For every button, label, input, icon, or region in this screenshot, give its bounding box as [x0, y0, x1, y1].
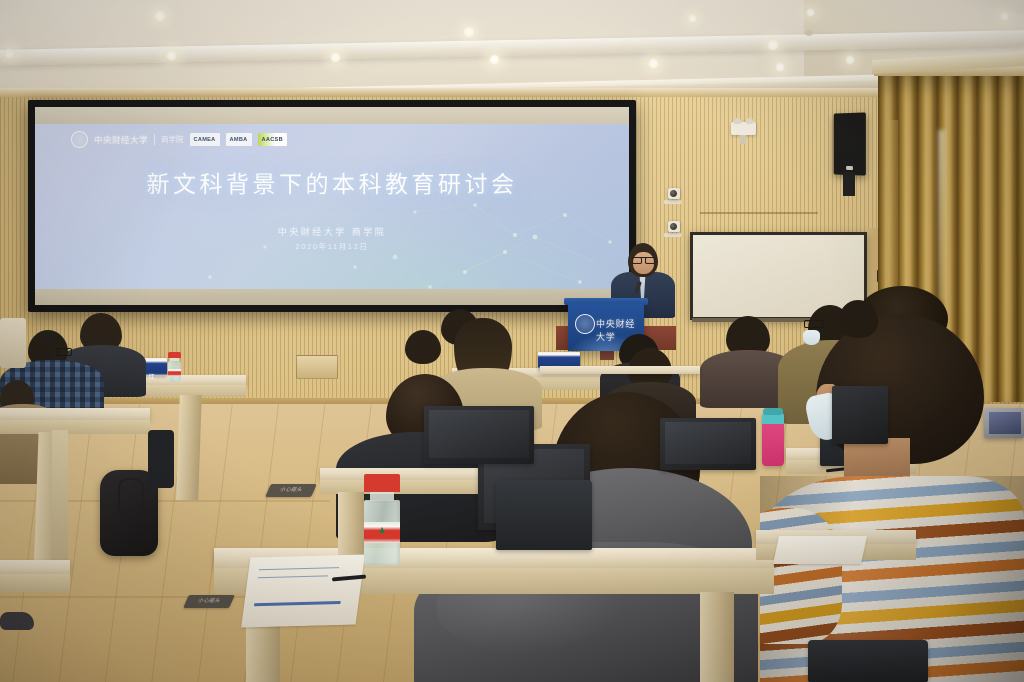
- slide-subtitle-org: 中央财经大学 商学院: [35, 225, 629, 238]
- slide-title: 新文科背景下的本科教育研讨会: [35, 165, 629, 199]
- slide-subtitle-date: 2020年11月12日: [35, 241, 629, 252]
- downlight: [688, 14, 697, 23]
- slide-logo-row: 中央财经大学 商学院 CAMEA AMBA AACSB: [71, 131, 287, 148]
- camera-lens-icon: [670, 190, 677, 197]
- emergency-light-stem: [740, 135, 746, 144]
- striped-sweater-woman: [760, 286, 1024, 682]
- logo-divider: [154, 134, 155, 145]
- slide-logo-amba: AMBA: [226, 133, 252, 146]
- wall-top-trim: [0, 88, 1024, 97]
- wall-speaker: [834, 112, 866, 175]
- bottle-label: [168, 369, 181, 376]
- desk-front: [0, 574, 70, 592]
- slide-surface: 中央财经大学 商学院 CAMEA AMBA AACSB 新文科背景下的本科教育研…: [35, 107, 629, 305]
- bottle-label: [364, 522, 400, 543]
- university-seal-icon: [71, 131, 88, 148]
- camera-lens-icon: [670, 223, 677, 230]
- downlight: [845, 55, 855, 65]
- handout-papers: [241, 555, 365, 628]
- slide-logo-camea: CAMEA: [190, 133, 220, 146]
- camera-bracket: [664, 200, 681, 204]
- paper-line: [254, 601, 341, 606]
- floor-plate-mid: 小心碰头: [265, 484, 317, 497]
- audience-head: [838, 300, 878, 338]
- desk-leg: [700, 592, 734, 682]
- floor-plate-label: 小心碰头: [183, 595, 235, 608]
- downlight: [154, 10, 166, 22]
- podium-university-seal-icon: [575, 314, 595, 334]
- speaker-mount: [843, 172, 855, 196]
- wall-vent: [296, 355, 338, 379]
- downlight: [463, 26, 475, 38]
- laptop-screen: [989, 412, 1021, 434]
- laptop-screen: [429, 410, 529, 458]
- bottle-cap: [364, 474, 400, 492]
- slide-logo-aacsb: AACSB: [258, 133, 287, 146]
- chair-back: [496, 480, 592, 550]
- desk-top: [540, 366, 700, 374]
- desk-top: [0, 408, 150, 420]
- water-bottle-foreground: [364, 474, 400, 566]
- slide-logo-university: 中央财经大学: [94, 134, 148, 146]
- projection-screen: 中央财经大学 商学院 CAMEA AMBA AACSB 新文科背景下的本科教育研…: [28, 100, 636, 312]
- desk-front: [0, 420, 150, 434]
- bottle-body: [364, 500, 400, 565]
- downlight: [767, 39, 779, 51]
- chair-back: [808, 640, 928, 682]
- downlight: [489, 54, 500, 65]
- downlight: [330, 52, 341, 63]
- downlight: [1000, 12, 1009, 21]
- glasses-icon: [56, 348, 72, 356]
- glasses-icon: [632, 257, 655, 263]
- camera-bracket: [664, 233, 681, 237]
- paper-line: [259, 567, 339, 570]
- chair-back: [0, 318, 26, 368]
- audience-head: [405, 330, 441, 364]
- downlight: [166, 50, 177, 61]
- camera-icon: [668, 188, 680, 199]
- handout-papers: [773, 536, 867, 564]
- lecture-hall-photo: 中央财经大学 商学院 CAMEA AMBA AACSB 新文科背景下的本科教育研…: [0, 0, 1024, 682]
- desk-leg: [176, 395, 202, 500]
- speaker-led-icon: [846, 166, 853, 170]
- shoe: [0, 612, 34, 630]
- wall-trim-line: [700, 212, 818, 214]
- floor-plate-label: 小心碰头: [265, 484, 317, 497]
- emergency-lamp-right-icon: [746, 118, 753, 124]
- downlight: [775, 62, 785, 72]
- desk-leg: [338, 492, 364, 558]
- camera-icon: [668, 221, 680, 232]
- curtain-light-gap: [938, 130, 945, 300]
- downlight: [806, 8, 815, 17]
- water-bottle: [168, 352, 181, 382]
- desk-top: [0, 560, 70, 574]
- downlight: [648, 58, 659, 69]
- bottle-logo-icon: [379, 527, 385, 533]
- floor-plate-left: 小心碰头: [183, 595, 235, 608]
- slide-logo-school: 商学院: [161, 134, 184, 145]
- bottle-body: [168, 361, 181, 382]
- laptop: [832, 386, 888, 444]
- desk-side-panel: [52, 430, 68, 570]
- backpack-strap: [118, 478, 144, 516]
- paper-line: [258, 575, 328, 578]
- screen-bottom-band: [35, 289, 629, 305]
- downlight: [4, 48, 15, 59]
- emergency-light-icon: [731, 122, 756, 135]
- laptop-screen: [665, 422, 751, 464]
- smoke-detector: [805, 30, 813, 36]
- audience-leg: [148, 430, 174, 488]
- emergency-lamp-left-icon: [734, 118, 741, 124]
